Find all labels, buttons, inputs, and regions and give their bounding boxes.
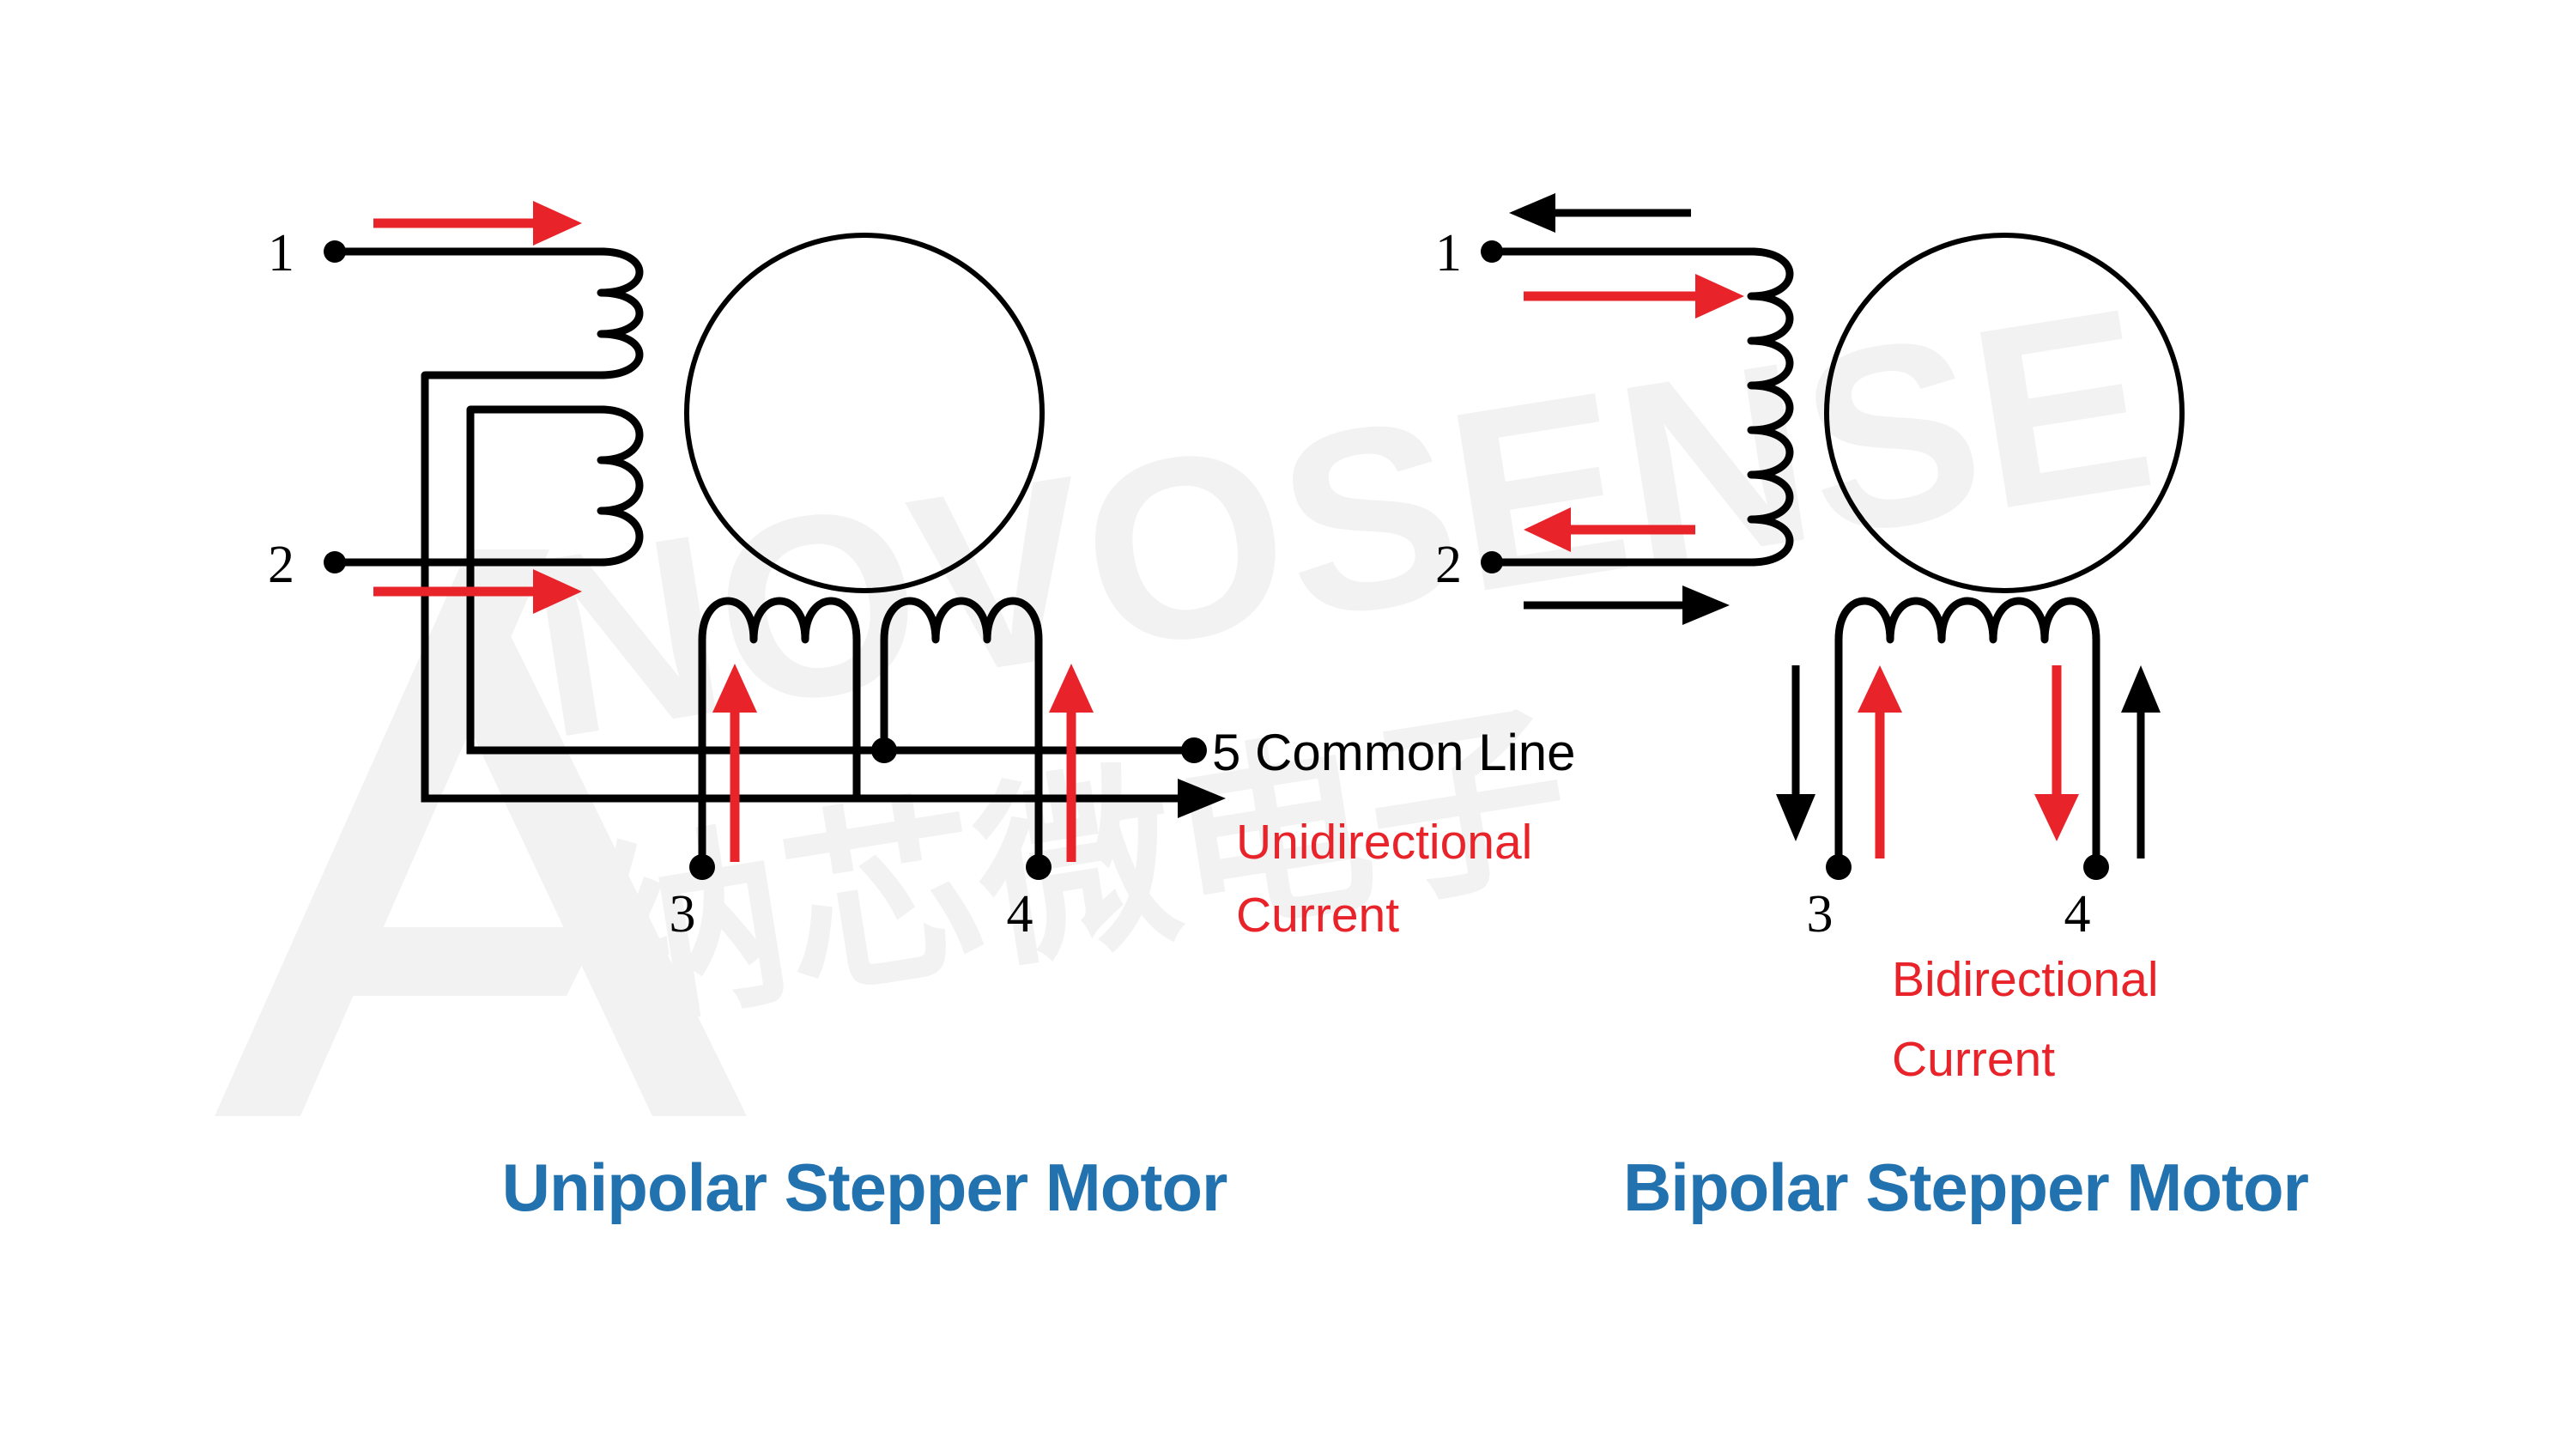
coil4-up-black-arrow-head xyxy=(2121,665,2161,713)
terminal-node-3-bipolar xyxy=(1826,854,1852,880)
current-note-line1-bipolar: Bidirectional xyxy=(1892,952,2159,1007)
terminal-label-3-bipolar: 3 xyxy=(1807,885,1834,943)
terminal-label-2-bipolar: 2 xyxy=(1435,536,1462,594)
coil3-down-black-arrow-head xyxy=(1776,794,1815,841)
watermark-text-novosense: NOVOSENSE xyxy=(512,252,2169,792)
panel-title-unipolar: Unipolar Stepper Motor xyxy=(502,1150,1227,1225)
coil-horiz-bip-bumps xyxy=(1839,601,2096,640)
panel-title-bipolar: Bipolar Stepper Motor xyxy=(1623,1150,2309,1225)
coil-vert-uni-top xyxy=(601,252,639,375)
terminal-label-1-unipolar: 1 xyxy=(268,224,294,282)
diagram-canvas: NOVOSENSE 纳芯微电子 1 2 xyxy=(0,0,2576,1450)
coil4-down-red-arrow-head xyxy=(2034,794,2079,841)
current-note-line1-unipolar: Unidirectional xyxy=(1236,815,1532,870)
terminal-label-3-unipolar: 3 xyxy=(670,885,696,943)
terminal-node-3-unipolar xyxy=(689,854,715,880)
terminal-label-2-unipolar: 2 xyxy=(268,536,294,594)
current-note-line2-unipolar: Current xyxy=(1236,888,1399,943)
stepper-motor-diagram: NOVOSENSE 纳芯微电子 1 2 xyxy=(0,0,2576,1450)
coil3-up-red-arrow-head xyxy=(1858,665,1902,713)
current-note-line2-bipolar: Current xyxy=(1892,1032,2055,1087)
coil1-forward-arrow-head xyxy=(1695,274,1744,319)
terminal-label-4-bipolar: 4 xyxy=(2064,885,2091,943)
terminal-label-1-bipolar: 1 xyxy=(1435,224,1462,282)
coil1-reverse-arrow-head xyxy=(1509,193,1555,233)
terminal-node-4-bipolar xyxy=(2083,854,2109,880)
terminal-node-4-unipolar xyxy=(1026,854,1052,880)
terminal-node-5-unipolar xyxy=(1181,737,1207,763)
terminal-label-4-unipolar: 4 xyxy=(1007,885,1033,943)
common-line-label: 5 Common Line xyxy=(1212,724,1576,781)
current-arrow-1-head-unipolar xyxy=(533,201,582,246)
